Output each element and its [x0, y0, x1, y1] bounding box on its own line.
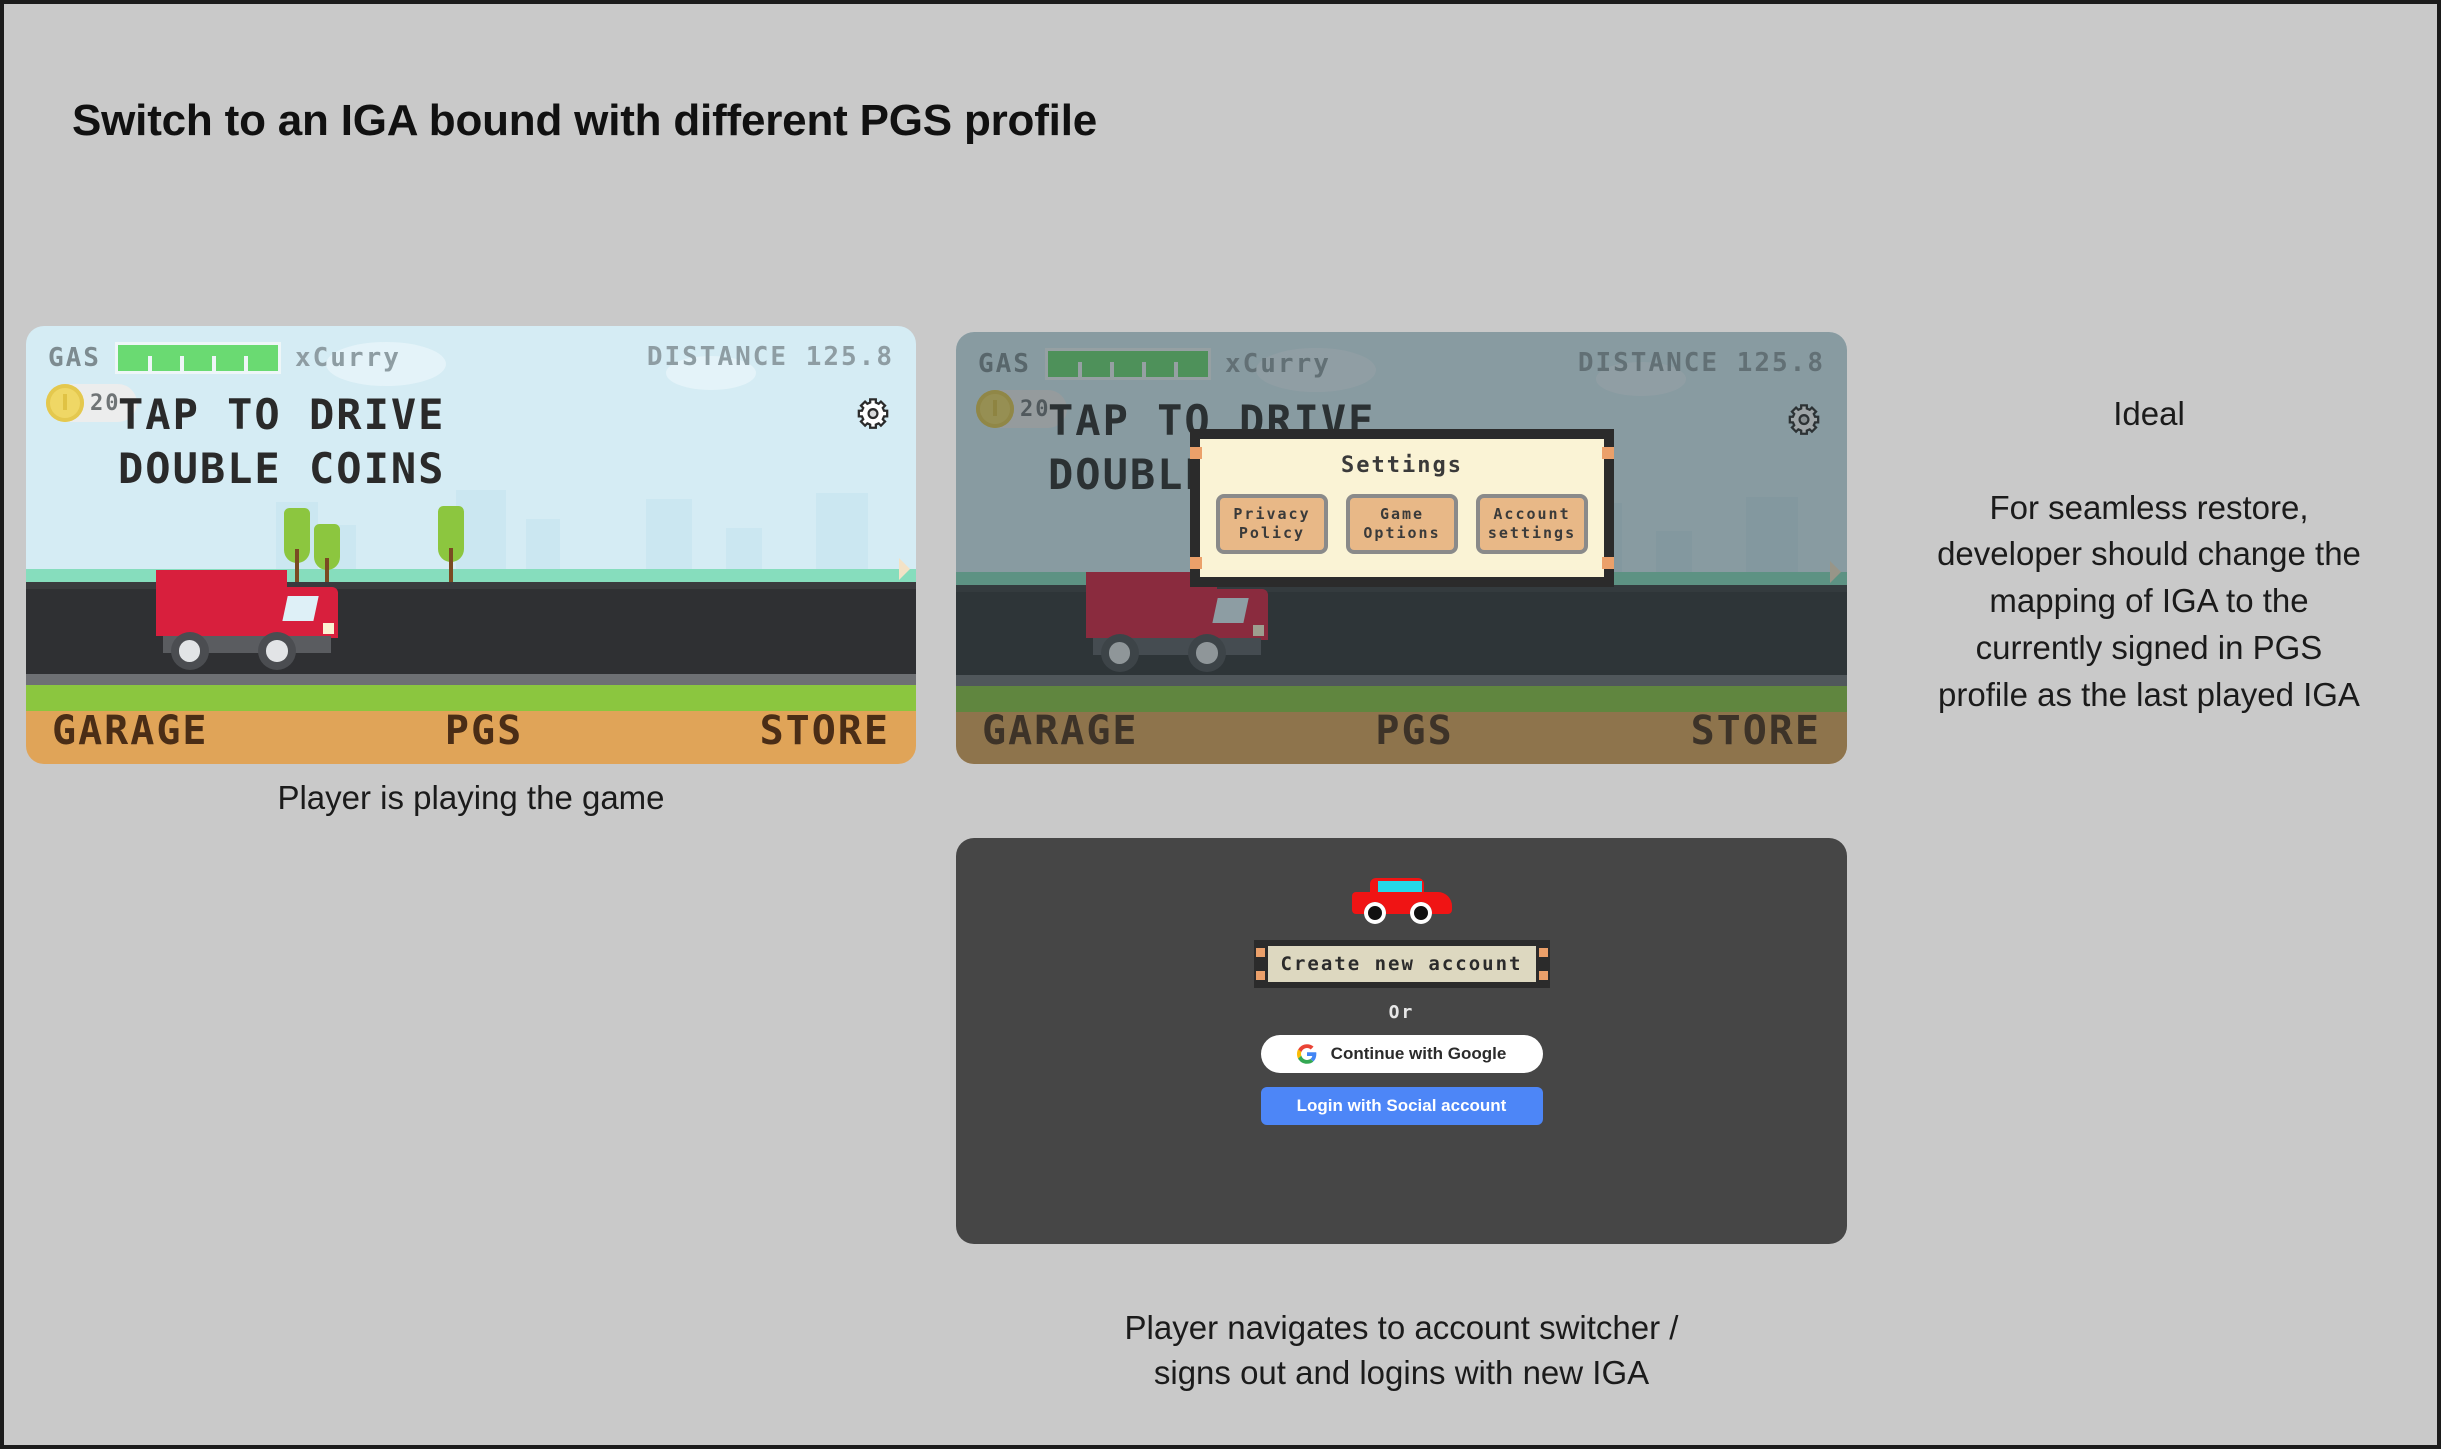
game-options-line-2: Options	[1363, 524, 1440, 544]
game-options-line-1: Game	[1380, 505, 1424, 525]
nav-item-pgs[interactable]: PGS	[1375, 708, 1453, 754]
slide-canvas: Switch to an IGA bound with different PG…	[0, 0, 2441, 1449]
account-settings-line-2: settings	[1488, 524, 1576, 544]
dialog-corner-pip	[1190, 447, 1202, 459]
google-g-icon	[1297, 1044, 1317, 1064]
settings-button-group: Privacy Policy Game Options Account sett…	[1200, 494, 1604, 554]
pixel-car-icon	[1352, 878, 1452, 924]
distance-readout: DISTANCE 125.8	[1578, 348, 1825, 378]
game-options-button[interactable]: Game Options	[1346, 494, 1458, 554]
account-settings-button[interactable]: Account settings	[1476, 494, 1588, 554]
coin-icon	[976, 390, 1014, 428]
tap-line-2: DOUBLE COINS	[118, 442, 445, 496]
ideal-body: For seamless restore, developer should c…	[1879, 485, 2419, 719]
caption-account-switcher: Player navigates to account switcher / s…	[956, 1306, 1847, 1395]
nav-item-garage[interactable]: GARAGE	[982, 708, 1139, 754]
tap-to-drive-prompt: TAP TO DRIVE DOUBLE COINS	[118, 388, 445, 496]
login-with-social-button[interactable]: Login with Social account	[1261, 1087, 1543, 1125]
account-settings-line-1: Account	[1493, 505, 1570, 525]
ideal-note: Ideal For seamless restore, developer sh…	[1879, 344, 2419, 766]
settings-dialog[interactable]: Settings Privacy Policy Game Options Acc…	[1190, 429, 1614, 587]
coin-multiplier-label: xCurry	[1225, 349, 1331, 379]
gear-icon[interactable]	[1787, 404, 1821, 438]
nav-next-arrow-icon[interactable]	[1830, 561, 1841, 583]
dialog-corner-pip	[1602, 447, 1614, 459]
gas-label: GAS	[978, 349, 1031, 379]
game-screen-playing[interactable]: GAS xCurry DISTANCE 125.8 20 TAP TO DRIV…	[26, 326, 916, 764]
nav-item-garage[interactable]: GARAGE	[52, 708, 209, 754]
dialog-corner-pip	[1190, 557, 1202, 569]
coin-count: 20	[1016, 397, 1051, 422]
game-hud: GAS xCurry DISTANCE 125.8	[956, 332, 1847, 380]
page-title: Switch to an IGA bound with different PG…	[72, 96, 1097, 146]
create-new-account-button[interactable]: Create new account	[1268, 940, 1536, 988]
privacy-policy-line-2: Policy	[1239, 524, 1305, 544]
tap-line-1: TAP TO DRIVE	[118, 388, 445, 442]
game-hud: GAS xCurry DISTANCE 125.8	[26, 326, 916, 374]
settings-title: Settings	[1200, 453, 1604, 478]
continue-with-google-label: Continue with Google	[1331, 1044, 1507, 1064]
gas-label: GAS	[48, 343, 101, 373]
privacy-policy-line-1: Privacy	[1233, 505, 1310, 525]
coin-multiplier-label: xCurry	[295, 343, 401, 373]
account-switcher-screen[interactable]: Create new account Or Continue with Goog…	[956, 838, 1847, 1244]
dialog-corner-pip	[1602, 557, 1614, 569]
privacy-policy-button[interactable]: Privacy Policy	[1216, 494, 1328, 554]
game-bottom-nav[interactable]: GARAGE PGS STORE	[956, 708, 1847, 754]
login-with-social-label: Login with Social account	[1297, 1096, 1507, 1116]
or-divider-label: Or	[1389, 1002, 1415, 1023]
create-new-account-label: Create new account	[1281, 953, 1523, 975]
player-truck	[156, 564, 338, 670]
coin-icon	[46, 384, 84, 422]
caption-player-playing: Player is playing the game	[26, 776, 916, 821]
continue-with-google-button[interactable]: Continue with Google	[1261, 1035, 1543, 1073]
nav-item-pgs[interactable]: PGS	[445, 708, 523, 754]
ideal-heading: Ideal	[1879, 391, 2419, 438]
gear-icon[interactable]	[856, 398, 890, 432]
nav-next-arrow-icon[interactable]	[899, 558, 910, 580]
coin-count: 20	[86, 391, 121, 416]
distance-readout: DISTANCE 125.8	[647, 342, 894, 372]
nav-item-store[interactable]: STORE	[760, 708, 890, 754]
nav-item-store[interactable]: STORE	[1691, 708, 1821, 754]
game-bottom-nav[interactable]: GARAGE PGS STORE	[26, 708, 916, 754]
gas-bar	[115, 342, 281, 374]
gas-bar	[1045, 348, 1211, 380]
tree-decoration	[438, 506, 464, 586]
